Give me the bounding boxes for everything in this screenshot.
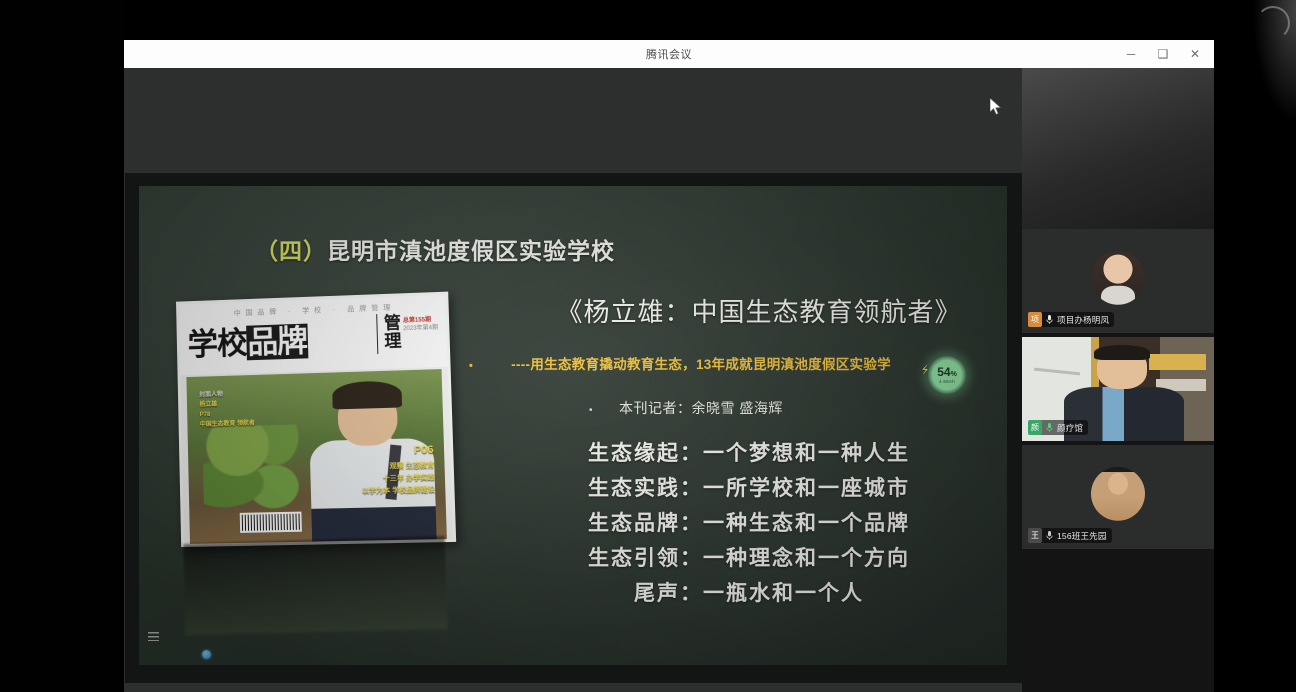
- window-titlebar[interactable]: 腾讯会议 ─ ❑ ✕: [124, 40, 1214, 68]
- participant-avatar-badge: 王: [1028, 528, 1042, 543]
- participant-tile[interactable]: 项 项目办杨明凤: [1022, 229, 1214, 333]
- participant-tile[interactable]: 颜 颜疗馆: [1022, 337, 1214, 441]
- magazine-title-row: 学校品牌 管理 总第155期 2023年第4期: [187, 312, 439, 360]
- mic-muted-icon: [1045, 530, 1054, 541]
- lens-arc-decor: [1256, 6, 1290, 40]
- battery-percent-value: 54%: [937, 366, 957, 378]
- lamp-arm-decor: [1033, 368, 1079, 376]
- magazine-issue-line: 总第155期: [403, 317, 431, 324]
- magazine-title-part2: 品牌: [246, 324, 308, 361]
- minimize-button[interactable]: ─: [1116, 41, 1146, 67]
- window-title: 腾讯会议: [646, 46, 692, 62]
- chalkboard-surface: （四）昆明市滇池度假区实验学校 《杨立雄：中国生态教育领航者》 • ----用生…: [139, 186, 1007, 665]
- cover-tag-b2: 十三年 办学实践: [383, 474, 435, 482]
- meeting-body: （四）昆明市滇池度假区实验学校 《杨立雄：中国生态教育领航者》 • ----用生…: [124, 68, 1214, 692]
- magazine-reflection: [183, 536, 447, 635]
- slide-line: 生态实践：一所学校和一座城市: [469, 471, 1007, 506]
- slide-title: 《杨立雄：中国生态教育领航者》: [499, 292, 1007, 329]
- slide-line: 生态缘起：一个梦想和一种人生: [469, 436, 1007, 471]
- magazine-title-part1: 学校: [187, 326, 247, 363]
- avatar: [1091, 251, 1145, 305]
- bullet-glyph-icon: •: [469, 360, 473, 372]
- magazine-issue-sub: 2023年第4期: [403, 324, 438, 334]
- slide-reporter: 本刊记者：余晓雪 盛海辉: [619, 398, 783, 418]
- window-controls: ─ ❑ ✕: [1116, 40, 1210, 68]
- slide-line: 生态引领：一种理念和一个方向: [469, 541, 1007, 576]
- magazine-title: 学校品牌: [187, 323, 373, 360]
- cover-page-no: P06: [361, 441, 434, 462]
- participant-avatar-badge: 颜: [1028, 420, 1042, 435]
- chalkboard-wood-frame: （四）昆明市滇池度假区实验学校 《杨立雄：中国生态教育领航者》 • ----用生…: [125, 173, 1022, 681]
- slide-heading-text: 昆明市滇池度假区实验学校: [327, 238, 615, 264]
- participant-tile[interactable]: 王 156班王先园: [1022, 445, 1214, 549]
- participant-name-chip: 王 156班王先园: [1028, 528, 1112, 543]
- slide-heading-number: （四）: [255, 238, 327, 264]
- right-bezel: [1214, 0, 1296, 692]
- mic-muted-icon: [1045, 314, 1054, 325]
- restore-button[interactable]: ❑: [1148, 41, 1178, 67]
- person-hair: [1094, 345, 1151, 360]
- slide-line: 尾声：一瓶水和一个人: [469, 576, 1007, 611]
- strip-background-top: [1022, 68, 1214, 229]
- cover-person-hair: [332, 381, 402, 410]
- battery-percent-badge: ⚡ 54% 4.68Ah: [928, 356, 966, 394]
- magazine-masthead: 中国品牌 · 学校 · 品牌管理 学校品牌 管理 总第155期 2023年第4期: [179, 295, 448, 376]
- magazine-photo: 封面人物 杨立雄 P78 中国生态教育 领航者 P06: [186, 369, 447, 546]
- person-silhouette: [1080, 347, 1168, 441]
- cover-tag-lead: 封面人物: [199, 391, 223, 398]
- slide-reporter-row: • 本刊记者：余晓雪 盛海辉: [589, 398, 783, 418]
- shared-screen-stage[interactable]: （四）昆明市滇池度假区实验学校 《杨立雄：中国生态教育领航者》 • ----用生…: [124, 68, 1022, 692]
- participant-name-chip: 项 项目办杨明凤: [1028, 312, 1114, 327]
- screen-root: 腾讯会议 ─ ❑ ✕ （四）昆明市滇池度假区实验学校: [0, 0, 1296, 692]
- left-bezel: [0, 0, 124, 692]
- participant-name: 项目办杨明凤: [1057, 314, 1109, 326]
- participant-strip: 项 项目办杨明凤: [1022, 68, 1214, 692]
- magazine-cover-tag-bottomright: P06 观察 生态教育 十三年 办学实践 以学为本 学校品牌建设: [361, 441, 435, 498]
- cover-tag-b1: 观察 生态教育: [389, 462, 434, 470]
- barcode-icon: [240, 511, 302, 533]
- slide-subtitle: ----用生态教育撬动教育生态，13年成就昆明滇池度假区实验学: [511, 353, 891, 373]
- magazine-vertical-title: 管理: [377, 313, 400, 354]
- magazine-issue: 总第155期 2023年第4期: [403, 312, 439, 334]
- cover-tag-page: P78: [200, 412, 211, 418]
- participant-name-chip: 颜 颜疗馆: [1028, 420, 1088, 435]
- chalk-tray-mark-icon: [148, 632, 159, 641]
- magazine-cover: 中国品牌 · 学校 · 品牌管理 学校品牌 管理 总第155期 2023年第4期: [176, 292, 456, 547]
- cover-tag-b3: 以学为本 学校品牌建设: [362, 486, 435, 495]
- mouse-cursor-icon: [990, 98, 1002, 116]
- participant-name: 颜疗馆: [1057, 422, 1083, 434]
- magazine-cover-image: 中国品牌 · 学校 · 品牌管理 学校品牌 管理 总第155期 2023年第4期: [177, 296, 451, 636]
- close-button[interactable]: ✕: [1180, 41, 1210, 67]
- top-bezel: [0, 0, 1296, 40]
- slide-body-lines: 生态缘起：一个梦想和一种人生 生态实践：一所学校和一座城市 生态品牌：一种生态和…: [469, 436, 1007, 611]
- participant-avatar-badge: 项: [1028, 312, 1042, 327]
- tencent-meeting-window: 腾讯会议 ─ ❑ ✕ （四）昆明市滇池度假区实验学校: [124, 40, 1214, 692]
- cover-tag-topic2: 领航者: [237, 421, 255, 427]
- bullet-glyph-icon-2: •: [589, 405, 593, 416]
- slide-heading: （四）昆明市滇池度假区实验学校: [255, 232, 615, 266]
- cover-tag-topic: 中国生态教育: [200, 421, 236, 428]
- slide-line: 生态品牌：一种生态和一个品牌: [469, 506, 1007, 541]
- battery-capacity-text: 4.68Ah: [939, 379, 955, 384]
- avatar: [1091, 467, 1145, 521]
- mic-active-icon: [1045, 422, 1054, 433]
- chalkboard-wrapper: （四）昆明市滇池度假区实验学校 《杨立雄：中国生态教育领航者》 • ----用生…: [125, 173, 1022, 683]
- blue-dot-indicator: [202, 650, 211, 659]
- magazine-cover-tag-topleft: 封面人物 杨立雄 P78 中国生态教育 领航者: [199, 388, 255, 430]
- cover-tag-name: 杨立雄: [200, 402, 218, 408]
- participant-name: 156班王先园: [1057, 530, 1107, 542]
